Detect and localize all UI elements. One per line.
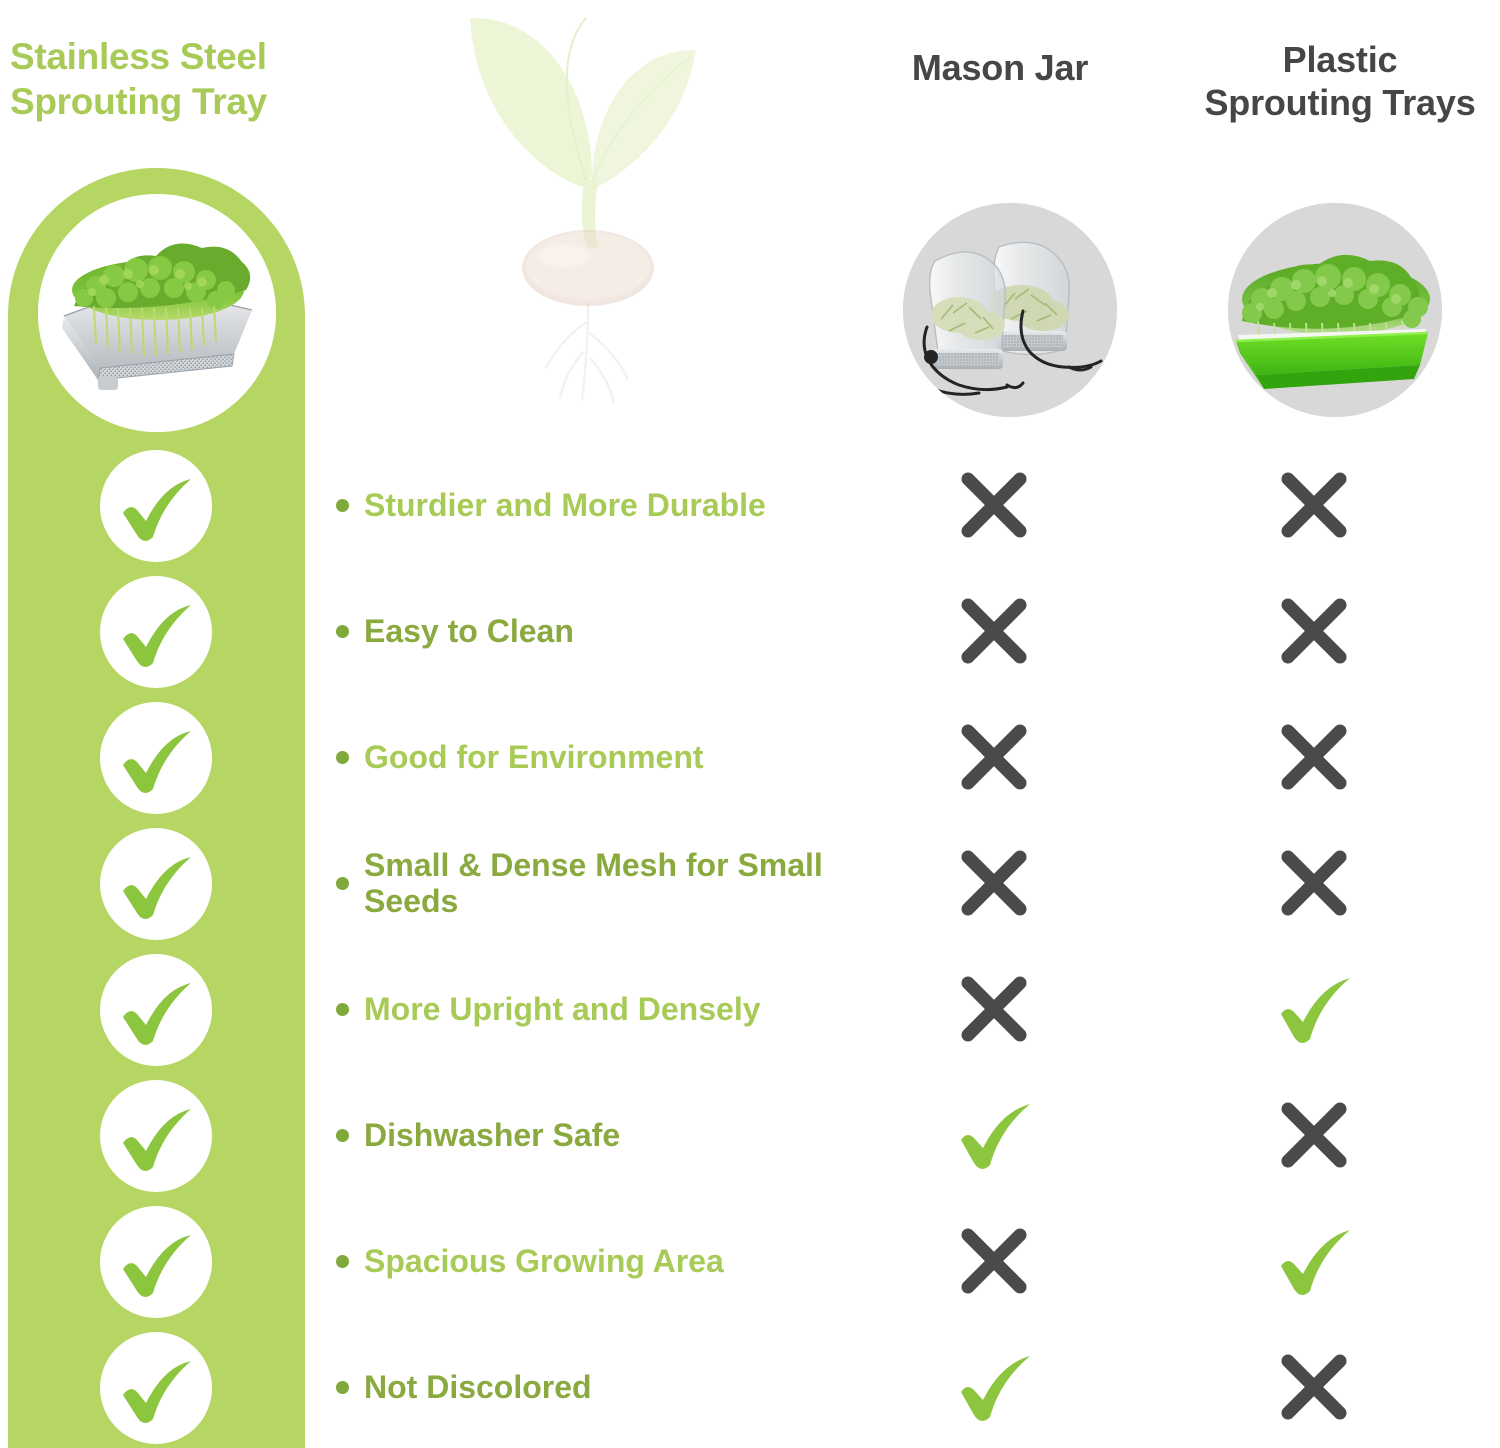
table-row: Sturdier and More Durable bbox=[336, 450, 1496, 560]
table-row: Good for Environment bbox=[336, 702, 1496, 812]
bullet-icon bbox=[336, 625, 349, 638]
bullet-icon bbox=[336, 1129, 349, 1142]
plastic-tray-photo bbox=[1228, 203, 1442, 417]
feature-label: Spacious Growing Area bbox=[364, 1243, 834, 1279]
mason-mark-1 bbox=[834, 455, 1154, 555]
product-title: Stainless Steel Sprouting Tray bbox=[10, 34, 340, 124]
stainless-tray-photo bbox=[38, 194, 276, 432]
plastic-mark-4 bbox=[1154, 833, 1474, 933]
plastic-mark-6 bbox=[1154, 1085, 1474, 1185]
bullet-icon bbox=[336, 751, 349, 764]
stainless-check-5 bbox=[100, 954, 212, 1066]
mason-mark-5 bbox=[834, 959, 1154, 1059]
plastic-mark-1 bbox=[1154, 455, 1474, 555]
table-row: Small & Dense Mesh for Small Seeds bbox=[336, 828, 1496, 938]
stainless-check-8 bbox=[100, 1332, 212, 1444]
product-title-line2: Sprouting Tray bbox=[10, 79, 340, 124]
column-header-plastic-trays-line1: Plastic bbox=[1185, 38, 1495, 81]
seedling-icon bbox=[452, 0, 728, 420]
stainless-check-6 bbox=[100, 1080, 212, 1192]
feature-label: More Upright and Densely bbox=[364, 991, 834, 1027]
plastic-mark-7 bbox=[1154, 1211, 1474, 1311]
bullet-icon bbox=[336, 1003, 349, 1016]
plastic-mark-2 bbox=[1154, 581, 1474, 681]
column-header-mason-jar-label: Mason Jar bbox=[912, 47, 1088, 88]
mason-mark-3 bbox=[834, 707, 1154, 807]
feature-label: Not Discolored bbox=[364, 1369, 834, 1405]
column-header-plastic-trays-line2: Sprouting Trays bbox=[1185, 81, 1495, 124]
mason-mark-2 bbox=[834, 581, 1154, 681]
stainless-check-1 bbox=[100, 450, 212, 562]
comparison-infographic: Stainless Steel Sprouting Tray bbox=[0, 0, 1500, 1448]
plastic-mark-3 bbox=[1154, 707, 1474, 807]
bullet-icon bbox=[336, 1381, 349, 1394]
plastic-mark-5 bbox=[1154, 959, 1474, 1059]
feature-label: Small & Dense Mesh for Small Seeds bbox=[364, 847, 834, 919]
table-row: More Upright and Densely bbox=[336, 954, 1496, 1064]
mason-jar-photo bbox=[903, 203, 1117, 417]
table-row: Spacious Growing Area bbox=[336, 1206, 1496, 1316]
feature-label: Easy to Clean bbox=[364, 613, 834, 649]
plastic-mark-8 bbox=[1154, 1337, 1474, 1437]
mason-mark-8 bbox=[834, 1337, 1154, 1437]
stainless-check-2 bbox=[100, 576, 212, 688]
feature-label: Dishwasher Safe bbox=[364, 1117, 834, 1153]
column-header-plastic-trays: Plastic Sprouting Trays bbox=[1185, 38, 1495, 124]
stainless-check-3 bbox=[100, 702, 212, 814]
stainless-check-4 bbox=[100, 828, 212, 940]
product-title-line1: Stainless Steel bbox=[10, 34, 340, 79]
stainless-check-7 bbox=[100, 1206, 212, 1318]
mason-mark-7 bbox=[834, 1211, 1154, 1311]
bullet-icon bbox=[336, 877, 349, 890]
table-row: Not Discolored bbox=[336, 1332, 1496, 1442]
bullet-icon bbox=[336, 499, 349, 512]
bullet-icon bbox=[336, 1255, 349, 1268]
feature-label: Good for Environment bbox=[364, 739, 834, 775]
column-header-mason-jar: Mason Jar bbox=[855, 46, 1145, 89]
feature-label: Sturdier and More Durable bbox=[364, 487, 834, 523]
mason-mark-6 bbox=[834, 1085, 1154, 1185]
table-row: Dishwasher Safe bbox=[336, 1080, 1496, 1190]
table-row: Easy to Clean bbox=[336, 576, 1496, 686]
mason-mark-4 bbox=[834, 833, 1154, 933]
